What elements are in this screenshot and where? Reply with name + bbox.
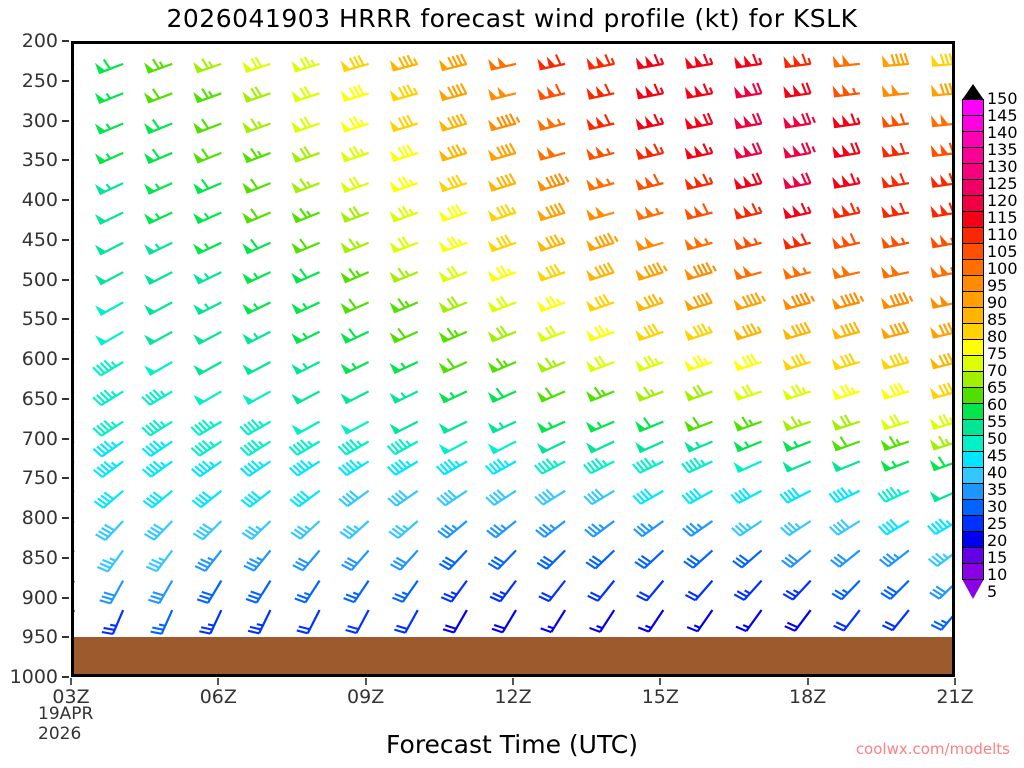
x-axis-tick-mark — [512, 678, 514, 685]
legend-swatch — [962, 531, 984, 548]
legend-swatch — [962, 291, 984, 308]
legend-label: 40 — [987, 465, 1007, 481]
page-title: 2026041903 HRRR forecast wind profile (k… — [0, 4, 1024, 33]
legend-swatch — [962, 147, 984, 164]
legend-cap-top — [962, 84, 984, 100]
legend-label: 15 — [987, 550, 1007, 566]
legend-swatch — [962, 227, 984, 244]
y-axis-tick-label: 800 — [0, 507, 58, 529]
legend-swatch — [962, 179, 984, 196]
legend-label: 55 — [987, 414, 1007, 430]
y-axis-tick-mark — [62, 438, 69, 440]
legend-label: 25 — [987, 516, 1007, 532]
legend-swatch — [962, 387, 984, 404]
y-axis-tick-mark — [62, 636, 69, 638]
color-legend: 1501451401351301251201151101051009590858… — [962, 84, 1022, 599]
legend-swatch — [962, 131, 984, 148]
legend-swatch — [962, 163, 984, 180]
y-axis-tick-label: 600 — [0, 348, 58, 370]
y-axis-tick-label: 500 — [0, 269, 58, 291]
legend-label: 90 — [987, 295, 1007, 311]
x-axis-tick-label: 09Z — [326, 686, 406, 708]
y-axis-tick-label: 650 — [0, 388, 58, 410]
legend-swatch — [962, 307, 984, 324]
legend-label: 60 — [987, 397, 1007, 413]
y-axis-tick-label: 950 — [0, 626, 58, 648]
x-axis-tick-mark — [70, 678, 72, 685]
legend-label: 70 — [987, 363, 1007, 379]
legend-colorbar: 1501451401351301251201151101051009590858… — [962, 84, 984, 599]
legend-swatch — [962, 563, 984, 580]
y-axis-tick-label: 550 — [0, 308, 58, 330]
date-line-1: 19APR — [38, 704, 93, 724]
legend-swatch — [962, 211, 984, 228]
legend-swatch — [962, 115, 984, 132]
y-axis-tick-mark — [62, 676, 69, 678]
legend-swatch — [962, 323, 984, 340]
y-axis-tick-label: 700 — [0, 428, 58, 450]
legend-swatch — [962, 259, 984, 276]
legend-label: 80 — [987, 329, 1007, 345]
x-axis-tick-mark — [659, 678, 661, 685]
x-axis-tick-mark — [807, 678, 809, 685]
legend-swatch — [962, 467, 984, 484]
legend-label: 50 — [987, 431, 1007, 447]
x-axis-tick-mark — [365, 678, 367, 685]
legend-label: 5 — [987, 584, 997, 600]
y-axis-tick-label: 1000 — [0, 666, 58, 688]
watermark: coolwx.com/modelts — [856, 740, 1010, 758]
legend-swatch — [962, 547, 984, 564]
legend-label: 105 — [987, 244, 1018, 260]
legend-label: 145 — [987, 108, 1018, 124]
y-axis-tick-mark — [62, 279, 69, 281]
legend-label: 20 — [987, 533, 1007, 549]
legend-swatch — [962, 243, 984, 260]
legend-swatch — [962, 339, 984, 356]
x-axis-tick-label: 21Z — [915, 686, 995, 708]
y-axis-tick-mark — [62, 517, 69, 519]
y-axis-tick-mark — [62, 120, 69, 122]
plot-area — [71, 41, 955, 677]
wind-profile-chart: 2026041903 HRRR forecast wind profile (k… — [0, 0, 1024, 768]
legend-label: 130 — [987, 159, 1018, 175]
y-axis-tick-mark — [62, 80, 69, 82]
y-axis-tick-mark — [62, 239, 69, 241]
legend-label: 115 — [987, 210, 1018, 226]
y-axis-tick-label: 250 — [0, 70, 58, 92]
legend-swatch — [962, 99, 984, 116]
y-axis-tick-mark — [62, 358, 69, 360]
wind-barb-layer — [74, 44, 955, 677]
y-axis-tick-label: 900 — [0, 587, 58, 609]
legend-label: 120 — [987, 193, 1018, 209]
legend-label: 150 — [987, 91, 1018, 107]
terrain-band — [74, 637, 952, 674]
x-axis-tick-mark — [954, 678, 956, 685]
legend-swatch — [962, 499, 984, 516]
legend-swatch — [962, 419, 984, 436]
x-axis-tick-label: 06Z — [178, 686, 258, 708]
y-axis-tick-label: 350 — [0, 149, 58, 171]
x-axis-tick-label: 18Z — [768, 686, 848, 708]
legend-label: 140 — [987, 125, 1018, 141]
y-axis-tick-label: 400 — [0, 189, 58, 211]
y-axis-tick-mark — [62, 40, 69, 42]
y-axis-tick-mark — [62, 398, 69, 400]
legend-swatch — [962, 483, 984, 500]
y-axis-tick-mark — [62, 159, 69, 161]
legend-label: 95 — [987, 278, 1007, 294]
legend-swatch — [962, 355, 984, 372]
y-axis-tick-mark — [62, 477, 69, 479]
legend-label: 85 — [987, 312, 1007, 328]
legend-label: 110 — [987, 227, 1018, 243]
legend-label: 125 — [987, 176, 1018, 192]
legend-swatch — [962, 275, 984, 292]
y-axis-tick-label: 200 — [0, 30, 58, 52]
legend-label: 65 — [987, 380, 1007, 396]
y-axis-tick-mark — [62, 597, 69, 599]
y-axis-tick-mark — [62, 199, 69, 201]
legend-swatch — [962, 371, 984, 388]
legend-swatch — [962, 451, 984, 468]
y-axis-tick-mark — [62, 557, 69, 559]
legend-label: 100 — [987, 261, 1018, 277]
x-axis-tick-mark — [217, 678, 219, 685]
x-axis-tick-label: 12Z — [473, 686, 553, 708]
y-axis-tick-label: 750 — [0, 467, 58, 489]
legend-swatch — [962, 403, 984, 420]
legend-label: 135 — [987, 142, 1018, 158]
legend-label: 35 — [987, 482, 1007, 498]
legend-swatch — [962, 195, 984, 212]
legend-label: 10 — [987, 567, 1007, 583]
y-axis-tick-label: 300 — [0, 110, 58, 132]
legend-label: 45 — [987, 448, 1007, 464]
legend-swatch — [962, 515, 984, 532]
y-axis-tick-mark — [62, 318, 69, 320]
legend-cap-bottom — [962, 579, 984, 599]
y-axis-tick-label: 850 — [0, 547, 58, 569]
y-axis-tick-label: 450 — [0, 229, 58, 251]
legend-swatch — [962, 435, 984, 452]
legend-label: 30 — [987, 499, 1007, 515]
x-axis-tick-label: 15Z — [620, 686, 700, 708]
legend-label: 75 — [987, 346, 1007, 362]
